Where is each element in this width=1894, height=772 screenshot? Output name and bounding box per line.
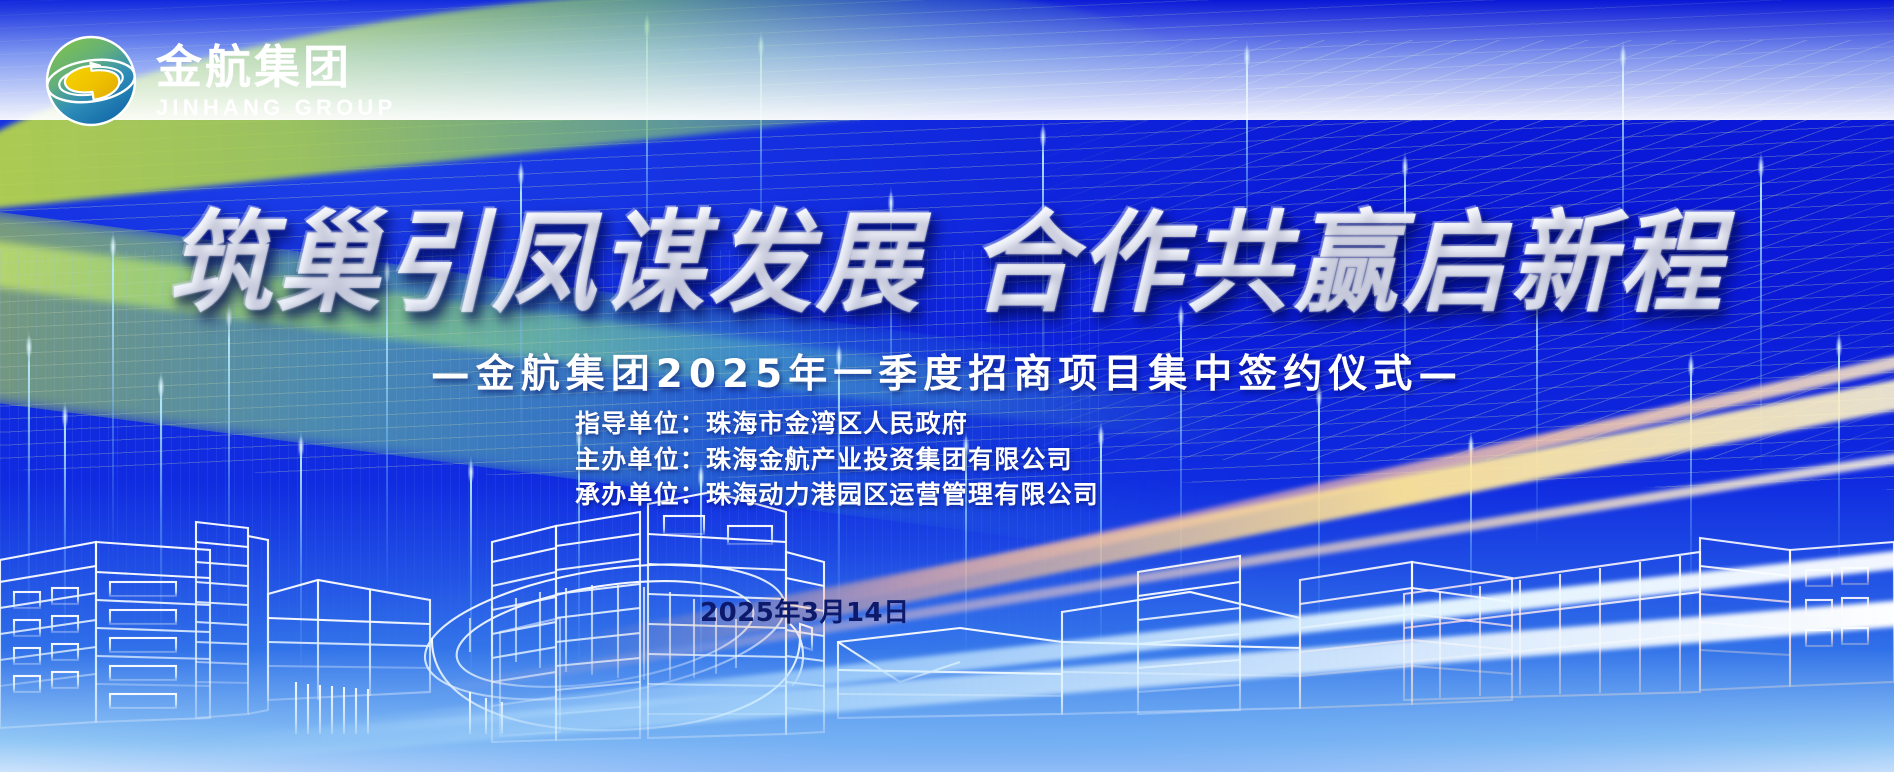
jinhang-globe-logo-icon [40, 30, 142, 132]
organizer-row-organizer: 承办单位：珠海动力港园区运营管理有限公司 [575, 477, 1099, 513]
logo-company-cn: 金航集团 [156, 44, 396, 90]
logo-wordmark: 金航集团 JINHANG GROUP [156, 44, 396, 119]
headline-part-1: 筑巢引凤谋发展 [168, 199, 924, 328]
event-date: 2025年3月14日 [700, 592, 910, 629]
organizer-row-host: 主办单位：珠海金航产业投资集团有限公司 [575, 442, 1099, 478]
organizer-row-guidance: 指导单位：珠海市金湾区人民政府 [575, 406, 1099, 442]
company-logo: 金航集团 JINHANG GROUP [40, 30, 396, 132]
logo-company-en: JINHANG GROUP [156, 97, 396, 119]
banner-headline: 筑巢引凤谋发展合作共赢启新程 [0, 173, 1894, 333]
event-banner: 金航集团 JINHANG GROUP 筑巢引凤谋发展合作共赢启新程 —金航集团2… [0, 0, 1894, 772]
headline-part-2: 合作共赢启新程 [970, 199, 1726, 328]
banner-subtitle: —金航集团2025年一季度招商项目集中签约仪式— [0, 343, 1894, 399]
organizer-list: 指导单位：珠海市金湾区人民政府 主办单位：珠海金航产业投资集团有限公司 承办单位… [575, 406, 1099, 513]
